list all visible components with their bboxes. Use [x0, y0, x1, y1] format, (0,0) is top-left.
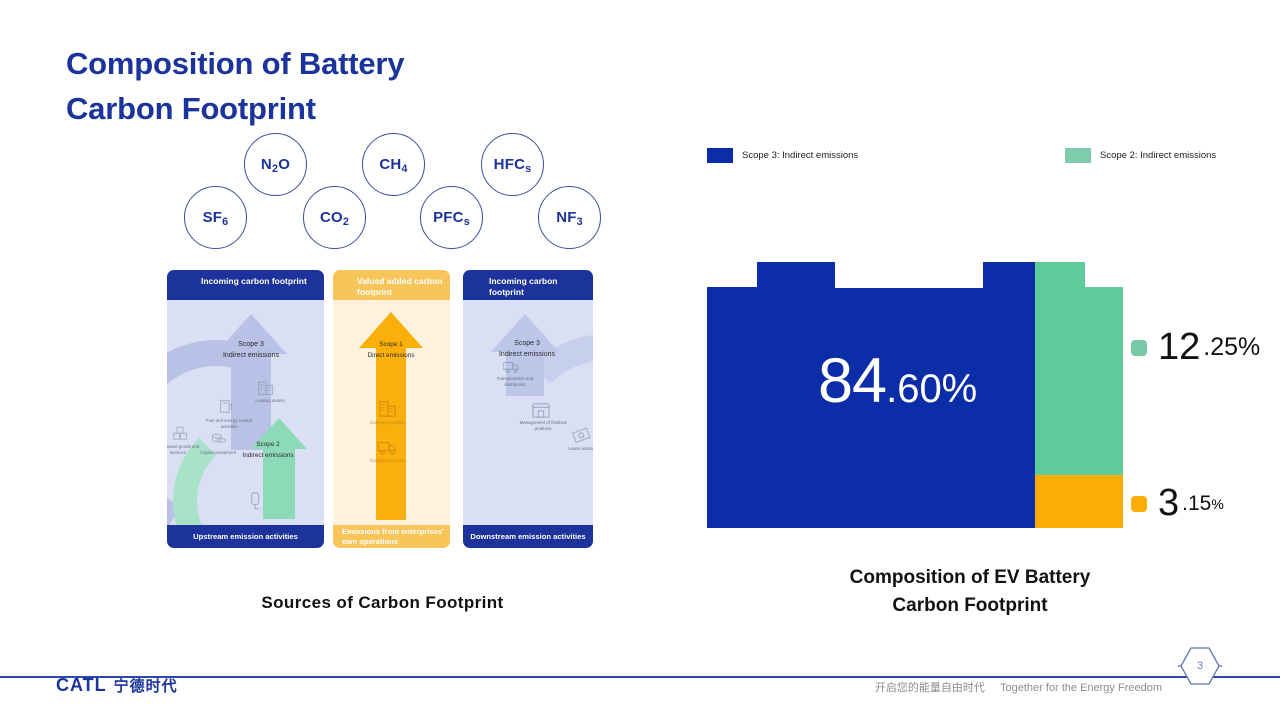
scope2-arrow-label: Scope 2 Indirect emissions	[239, 440, 297, 461]
chart-value-scope1-int: 3	[1158, 482, 1179, 525]
panel-downstream: Incoming carbon footprint Scope 3 Indire…	[463, 270, 593, 548]
panel-upstream-footer: Upstream emission activities	[167, 525, 324, 548]
gas-bubble-co2: CO2	[303, 186, 366, 249]
greenhouse-gas-bubbles: SF6 N2O CO2 CH4 PFCs HFCs NF3	[0, 0, 700, 260]
note-leasing: Leasing assets	[249, 398, 291, 404]
caption-chart-line1: Composition of EV Battery	[770, 564, 1170, 592]
note-finished-products: Management of finished products	[519, 420, 567, 432]
boxes-icon	[173, 426, 191, 442]
scope1-label-sub: Direct emissions	[351, 351, 431, 361]
panel-upstream-header: Incoming carbon footprint	[167, 270, 324, 300]
chart-value-scope1-dec: .15	[1182, 492, 1211, 516]
scope3-down-label: Scope 3 Indirect emissions	[485, 338, 569, 360]
gas-bubble-ch4: CH4	[362, 133, 425, 196]
panel-downstream-header: Incoming carbon footprint	[463, 270, 593, 300]
legend-label-scope3: Scope 3: Indirect emissions	[742, 150, 858, 161]
gas-bubble-sf6-label: SF6	[203, 209, 229, 226]
chart-value-scope2-int: 12	[1158, 326, 1200, 369]
chart-value-scope3-dec: .60%	[886, 367, 977, 411]
coins-icon	[211, 432, 227, 446]
panel-upstream-body: Scope 3 Indirect emissions Scope 2 Indir…	[167, 300, 324, 525]
chart-segment-scope2[interactable]	[1035, 287, 1123, 475]
scope3-arrow-label: Scope 3 Indirect emissions	[211, 339, 291, 360]
scope1-arrow-label: Scope 1 Direct emissions	[351, 340, 431, 361]
scope2-label-sub: Indirect emissions	[239, 451, 297, 461]
brand-logo-cn: 宁德时代	[114, 675, 178, 696]
factory-building-icon	[378, 398, 398, 418]
chart-segment-scope1[interactable]	[1035, 475, 1123, 528]
brand-logo: CATL 宁德时代	[56, 675, 178, 696]
fuel-icon	[219, 398, 233, 414]
panel-downstream-body: Scope 3 Indirect emissions Transportatio…	[463, 300, 593, 525]
note-fuel: Fuel and energy related activities	[205, 418, 253, 430]
gas-bubble-co2-label: CO2	[320, 209, 349, 226]
caption-chart-line2: Carbon Footprint	[770, 592, 1170, 620]
chart-marker-scope2	[1131, 340, 1147, 356]
legend-item-scope3[interactable]: Scope 3: Indirect emissions	[707, 148, 858, 163]
chart-value-scope3: 84.60%	[818, 345, 977, 417]
panel-upstream: Incoming carbon footprint Scope 3 Indire…	[167, 270, 324, 548]
slide-root: Composition of Battery Carbon Footprint …	[0, 0, 1280, 720]
legend-item-scope2[interactable]: Scope 2: Indirect emissions	[1065, 148, 1216, 163]
footer-divider	[0, 676, 1280, 678]
gas-bubble-nf3-label: NF3	[556, 209, 583, 226]
brand-logo-latin: CATL	[56, 675, 107, 696]
note-company-vehicles: Company vehicles	[359, 458, 417, 464]
note-lease-assets: Lease assets	[563, 446, 593, 452]
legend-swatch-scope2	[1065, 148, 1091, 163]
chart-value-scope3-int: 84	[818, 346, 886, 416]
gas-bubble-hfcs-label: HFCs	[494, 156, 532, 173]
scope3-label-title: Scope 3	[211, 339, 291, 351]
gas-bubble-nf3: NF3	[538, 186, 601, 249]
chart-segment-scope3-notch-gap	[835, 262, 983, 288]
scope2-label-title: Scope 2	[239, 440, 297, 451]
legend-swatch-scope3	[707, 148, 733, 163]
note-down-transport: Transportation and distribution	[493, 376, 537, 388]
company-truck-icon	[377, 440, 399, 456]
chart-value-scope2: 12 .25%	[1131, 326, 1260, 369]
gas-bubble-sf6: SF6	[184, 186, 247, 249]
scope1-label-title: Scope 1	[351, 340, 431, 351]
chart-value-scope2-dec: .25%	[1203, 333, 1260, 362]
note-company-facilities: Company facilities	[359, 420, 417, 426]
scope3-down-sub: Indirect emissions	[485, 350, 569, 360]
chart-segment-scope2-notch	[1035, 262, 1085, 290]
gas-bubble-pfcs-label: PFCs	[433, 209, 470, 226]
chart-marker-scope1	[1131, 496, 1147, 512]
gas-bubble-pfcs: PFCs	[420, 186, 483, 249]
footer-tagline: 开启您的能量自由时代 Together for the Energy Freed…	[875, 679, 1162, 695]
gas-bubble-n2o-label: N2O	[261, 156, 290, 173]
chart-value-scope1-pct: %	[1211, 496, 1223, 512]
panel-own-operations: Valued added carbon footprint Scope 1 Di…	[333, 270, 450, 548]
panel-downstream-footer: Downstream emission activities	[463, 525, 593, 548]
chart-value-scope1: 3 .15%	[1131, 482, 1224, 525]
plug-icon	[249, 492, 263, 510]
scope3-label-sub: Indirect emissions	[211, 351, 291, 360]
footer-tagline-en: Together for the Energy Freedom	[1000, 682, 1162, 694]
panel-own-operations-body: Scope 1 Direct emissions Company facilit…	[333, 300, 450, 525]
scope3-down-title: Scope 3	[485, 338, 569, 350]
gas-bubble-ch4-label: CH4	[379, 156, 407, 173]
caption-chart: Composition of EV Battery Carbon Footpri…	[770, 564, 1170, 619]
legend-label-scope2: Scope 2: Indirect emissions	[1100, 150, 1216, 161]
gas-bubble-hfcs: HFCs	[481, 133, 544, 196]
page-number: 3	[1178, 645, 1222, 687]
note-capital: Capital investment	[193, 450, 243, 456]
panel-own-operations-header: Valued added carbon footprint	[333, 270, 450, 300]
building-icon	[257, 378, 275, 396]
footer-tagline-cn: 开启您的能量自由时代	[875, 682, 985, 694]
store-icon	[531, 402, 551, 418]
panel-own-operations-footer: Emissions from enterprises' own operatio…	[333, 525, 450, 548]
delivery-truck-icon	[503, 360, 521, 374]
page-number-badge: 3	[1178, 645, 1222, 687]
caption-sources: Sources of Carbon Footprint	[150, 593, 615, 613]
gas-bubble-n2o: N2O	[244, 133, 307, 196]
